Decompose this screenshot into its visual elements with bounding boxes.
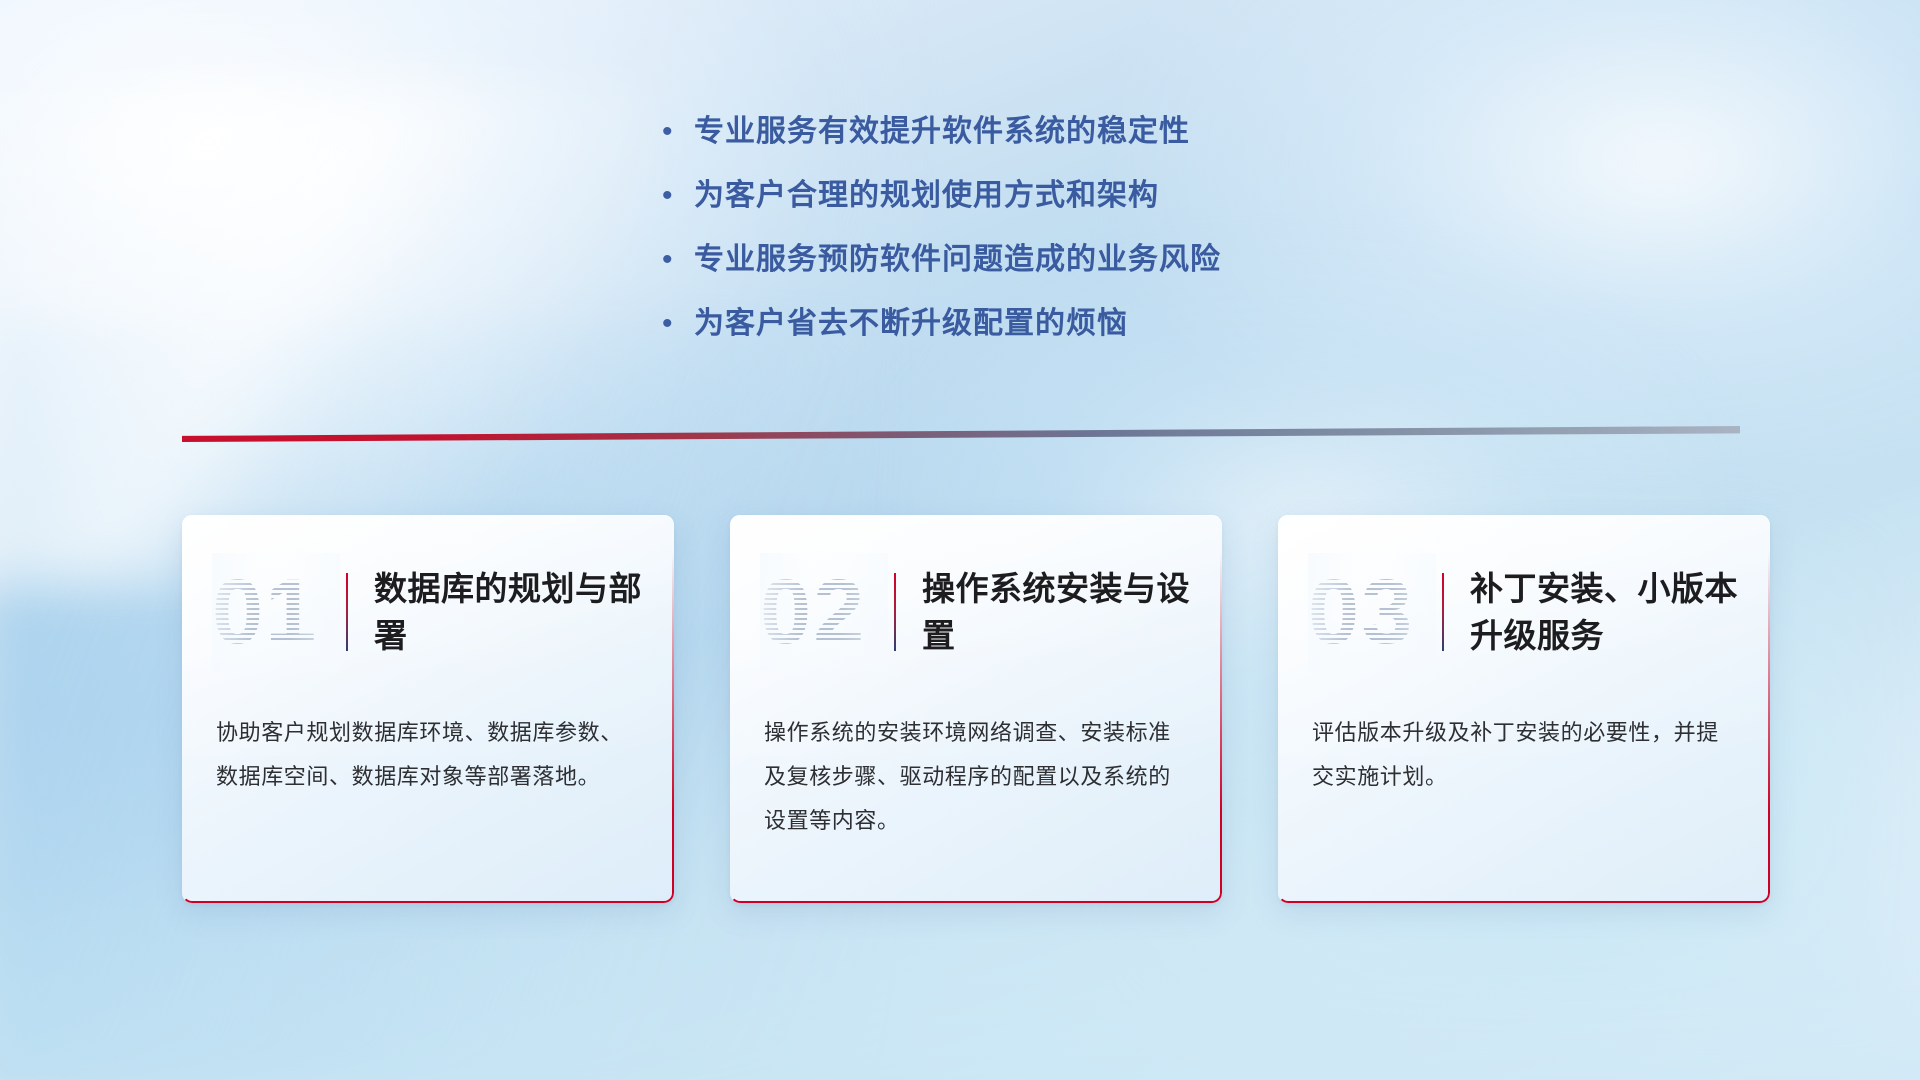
bullet-dot-icon: • (660, 112, 694, 152)
card-number-watermark: 02 (760, 553, 888, 671)
card-accent-rule (1442, 573, 1444, 651)
card-accent-rule (894, 573, 896, 651)
card-title: 操作系统安装与设置 (922, 565, 1192, 659)
card-01[interactable]: 01 数据库的规划与部署 协助客户规划数据库环境、数据库参数、数据库空间、数据库… (182, 515, 674, 903)
bullet-text: 专业服务预防软件问题造成的业务风险 (694, 240, 1221, 280)
background-light-streak (0, 86, 653, 583)
bullet-text: 为客户省去不断升级配置的烦恼 (694, 304, 1128, 344)
card-title: 数据库的规划与部署 (374, 565, 644, 659)
bullet-dot-icon: • (660, 240, 694, 280)
card-03[interactable]: 03 补丁安装、小版本升级服务 评估版本升级及补丁安装的必要性，并提交实施计划。 (1278, 515, 1770, 903)
card-body-text: 评估版本升级及补丁安装的必要性，并提交实施计划。 (1278, 671, 1770, 837)
section-divider (182, 426, 1740, 442)
bullet-text: 为客户合理的规划使用方式和架构 (694, 176, 1159, 216)
card-body-text: 操作系统的安装环境网络调查、安装标准及复核步骤、驱动程序的配置以及系统的设置等内… (730, 671, 1222, 881)
card-title: 补丁安装、小版本升级服务 (1470, 565, 1740, 659)
card-header: 02 操作系统安装与设置 (730, 515, 1222, 671)
list-item: • 为客户省去不断升级配置的烦恼 (660, 304, 1420, 344)
card-body-text: 协助客户规划数据库环境、数据库参数、数据库空间、数据库对象等部署落地。 (182, 671, 674, 837)
bullet-dot-icon: • (660, 304, 694, 344)
card-header: 03 补丁安装、小版本升级服务 (1278, 515, 1770, 671)
bullet-list: • 专业服务有效提升软件系统的稳定性 • 为客户合理的规划使用方式和架构 • 专… (660, 112, 1420, 368)
slide-canvas: • 专业服务有效提升软件系统的稳定性 • 为客户合理的规划使用方式和架构 • 专… (0, 0, 1920, 1080)
bullet-dot-icon: • (660, 176, 694, 216)
card-row: 01 数据库的规划与部署 协助客户规划数据库环境、数据库参数、数据库空间、数据库… (182, 515, 1772, 903)
bullet-text: 专业服务有效提升软件系统的稳定性 (694, 112, 1190, 152)
list-item: • 为客户合理的规划使用方式和架构 (660, 176, 1420, 216)
list-item: • 专业服务预防软件问题造成的业务风险 (660, 240, 1420, 280)
card-header: 01 数据库的规划与部署 (182, 515, 674, 671)
card-number-watermark: 03 (1308, 553, 1436, 671)
divider-gradient-bar (182, 426, 1740, 442)
card-accent-rule (346, 573, 348, 651)
list-item: • 专业服务有效提升软件系统的稳定性 (660, 112, 1420, 152)
card-number-watermark: 01 (212, 553, 340, 671)
card-02[interactable]: 02 操作系统安装与设置 操作系统的安装环境网络调查、安装标准及复核步骤、驱动程… (730, 515, 1222, 903)
